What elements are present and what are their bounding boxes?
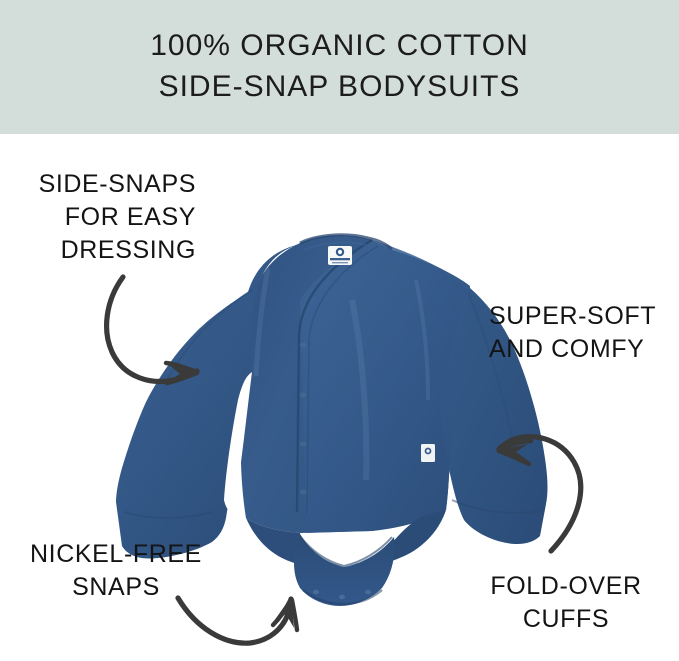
callout-fold-over-cuffs: FOLD-OVER CUFFS [466, 570, 666, 636]
callout-super-soft-line-2: AND COMFY [489, 333, 669, 366]
callout-side-snaps: SIDE-SNAPS FOR EASY DRESSING [18, 168, 196, 267]
neck-brand-tag [328, 246, 352, 265]
callout-side-snaps-line-1: SIDE-SNAPS [18, 168, 196, 201]
callout-fold-over-line-2: CUFFS [466, 603, 666, 636]
product-infographic: 100% ORGANIC COTTON SIDE-SNAP BODYSUITS [0, 0, 679, 661]
callout-fold-over-line-1: FOLD-OVER [466, 570, 666, 603]
hem-brand-tag [421, 444, 435, 462]
callout-nickel-free-line-2: SNAPS [18, 571, 214, 604]
callout-super-soft: SUPER-SOFT AND COMFY [489, 300, 669, 366]
callout-side-snaps-line-2: FOR EASY [18, 201, 196, 234]
callout-super-soft-line-1: SUPER-SOFT [489, 300, 669, 333]
callout-nickel-free-snaps: NICKEL-FREE SNAPS [18, 538, 214, 604]
callout-side-snaps-line-3: DRESSING [18, 234, 196, 267]
callout-nickel-free-line-1: NICKEL-FREE [18, 538, 214, 571]
garment-kimono-wrap [297, 240, 470, 533]
